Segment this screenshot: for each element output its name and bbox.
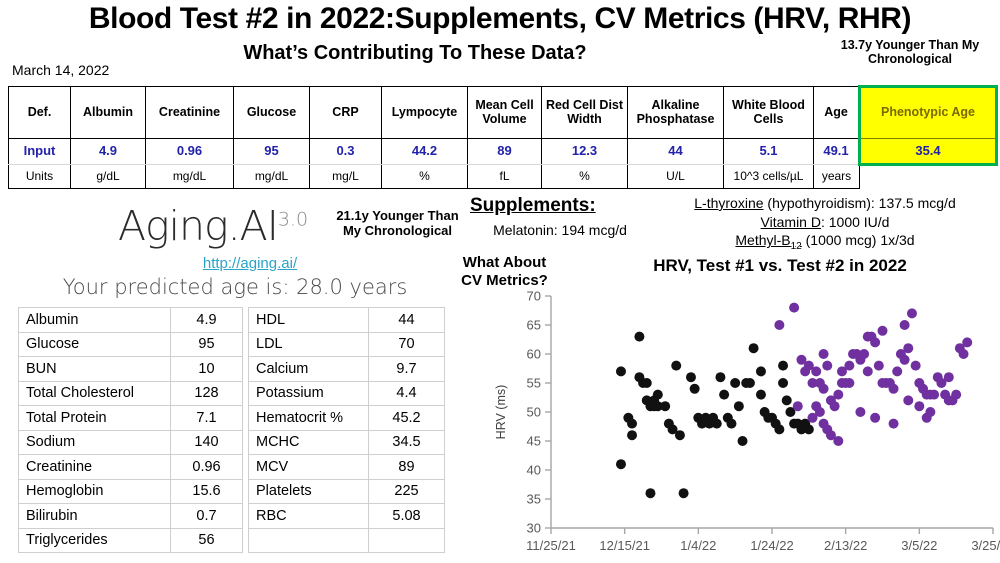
y-tick-label: 35 <box>527 492 541 507</box>
blood-results-table-right: HDL44 LDL70 Calcium9.7 Potassium4.4 Hema… <box>248 307 445 553</box>
result-label: Potassium <box>249 381 369 406</box>
table-row: Glucose95 <box>19 332 243 357</box>
table-row: Hematocrit %45.2 <box>249 406 445 431</box>
table-row: MCV89 <box>249 455 445 480</box>
input-age: 49.1 <box>814 139 860 165</box>
result-label: Hematocrit % <box>249 406 369 431</box>
y-tick-label: 55 <box>527 376 541 391</box>
scatter-point <box>616 366 626 376</box>
result-label: Total Cholesterol <box>19 381 171 406</box>
scatter-point <box>844 361 854 371</box>
units-crp: mg/L <box>310 165 382 189</box>
units-lympocyte: % <box>382 165 468 189</box>
supplement-methyl-b12-base: Methyl-B <box>735 232 790 248</box>
result-value: 45.2 <box>369 406 445 431</box>
supplements-heading-colon: : <box>589 195 595 216</box>
supplement-methyl-b12-name: Methyl-B12 <box>735 232 801 248</box>
result-value: 7.1 <box>171 406 243 431</box>
units-creatinine: mg/dL <box>146 165 234 189</box>
supplement-lthyroxine-dose: (hypothyroidism): 137.5 mcg/d <box>764 195 956 211</box>
y-axis-title: HRV (ms) <box>494 385 508 440</box>
phenotypic-younger-note: 13.7y Younger Than My Chronological <box>820 38 1000 66</box>
result-label: HDL <box>249 308 369 333</box>
scatter-point <box>745 378 755 388</box>
scatter-point <box>959 349 969 359</box>
input-phenotypic-age: 35.4 <box>860 139 997 165</box>
scatter-point <box>756 366 766 376</box>
supplements-list: L-thyroxine (hypothyroidism): 137.5 mcg/… <box>650 194 1000 253</box>
agingai-logo-text: Aging.AI <box>118 202 278 250</box>
scatter-point <box>726 419 736 429</box>
scatter-point <box>889 384 899 394</box>
result-label: Albumin <box>19 308 171 333</box>
scatter-point <box>774 320 784 330</box>
result-label: Hemoglobin <box>19 479 171 504</box>
scatter-point <box>870 413 880 423</box>
test-date-label: March 14, 2022 <box>12 62 109 78</box>
col-head-crp: CRP <box>310 87 382 139</box>
units-mean-cell-volume: fL <box>468 165 542 189</box>
scatter-point <box>616 459 626 469</box>
y-tick-label: 45 <box>527 434 541 449</box>
scatter-point <box>874 361 884 371</box>
col-head-glucose: Glucose <box>234 87 310 139</box>
result-value: 4.4 <box>369 381 445 406</box>
table-row: Potassium4.4 <box>249 381 445 406</box>
scatter-point <box>738 436 748 446</box>
col-head-mean-cell-volume: Mean Cell Volume <box>468 87 542 139</box>
scatter-point <box>962 337 972 347</box>
col-head-lympocyte: Lympocyte <box>382 87 468 139</box>
units-alkaline-phosphatase: U/L <box>628 165 724 189</box>
scatter-point <box>660 401 670 411</box>
scatter-point <box>900 320 910 330</box>
col-head-albumin: Albumin <box>71 87 146 139</box>
result-value: 128 <box>171 381 243 406</box>
units-red-cell-dist-width: % <box>542 165 628 189</box>
result-label: MCV <box>249 455 369 480</box>
table-row: Total Protein7.1 <box>19 406 243 431</box>
scatter-point <box>914 401 924 411</box>
scatter-point <box>719 390 729 400</box>
result-label: Triglycerides <box>19 528 171 553</box>
scatter-point <box>892 366 902 376</box>
result-value: 5.08 <box>369 504 445 529</box>
scatter-point <box>808 413 818 423</box>
supplement-lthyroxine-name: L-thyroxine <box>694 195 763 211</box>
result-value: 15.6 <box>171 479 243 504</box>
supplement-methyl-b12-dose: (1000 mcg) 1x/3d <box>802 232 915 248</box>
chart-title: HRV, Test #1 vs. Test #2 in 2022 <box>560 256 1000 276</box>
row-label-input: Input <box>9 139 71 165</box>
scatter-point <box>822 361 832 371</box>
table-row <box>249 528 445 553</box>
table-row: Hemoglobin15.6 <box>19 479 243 504</box>
scatter-point <box>804 424 814 434</box>
supplement-vitamin-d-dose: : 1000 IU/d <box>821 214 890 230</box>
y-tick-label: 65 <box>527 318 541 333</box>
result-label: Bilirubin <box>19 504 171 529</box>
scatter-point <box>712 419 722 429</box>
scatter-point <box>911 361 921 371</box>
table-row: Sodium140 <box>19 430 243 455</box>
x-tick-label: 1/4/22 <box>680 538 716 553</box>
table-row: Bilirubin0.7 <box>19 504 243 529</box>
col-head-age: Age <box>814 87 860 139</box>
blood-results-table-left: Albumin4.9 Glucose95 BUN10 Total Cholest… <box>18 307 243 553</box>
input-red-cell-dist-width: 12.3 <box>542 139 628 165</box>
units-phenotypic-age <box>860 165 997 189</box>
result-label: Total Protein <box>19 406 171 431</box>
result-value: 0.96 <box>171 455 243 480</box>
table-row: Creatinine0.96 <box>19 455 243 480</box>
scatter-point <box>778 378 788 388</box>
supplement-methyl-b12-subscript: 12 <box>791 241 802 252</box>
result-label: RBC <box>249 504 369 529</box>
agingai-version: 3.0 <box>278 208 308 230</box>
supplement-melatonin: Melatonin: 194 mcg/d <box>470 222 650 238</box>
scatter-point <box>679 488 689 498</box>
scatter-point <box>907 308 917 318</box>
supplement-vitamin-d: Vitamin D: 1000 IU/d <box>650 213 1000 232</box>
result-value: 225 <box>369 479 445 504</box>
y-tick-label: 50 <box>527 405 541 420</box>
chart-svg: 30354045505560657011/25/2112/15/211/4/22… <box>440 280 1000 563</box>
scatter-point <box>844 378 854 388</box>
result-value <box>369 528 445 553</box>
scatter-point <box>800 366 810 376</box>
result-value: 44 <box>369 308 445 333</box>
row-label-units: Units <box>9 165 71 189</box>
table-header-row: Def. Albumin Creatinine Glucose CRP Lymp… <box>9 87 997 139</box>
x-tick-label: 3/5/22 <box>901 538 937 553</box>
col-head-white-blood-cells: White Blood Cells <box>724 87 814 139</box>
page-subtitle: What’s Contributing To These Data? <box>0 42 830 65</box>
scatter-point <box>627 430 637 440</box>
scatter-point <box>819 384 829 394</box>
col-head-alkaline-phosphatase: Alkaline Phosphatase <box>628 87 724 139</box>
result-value: 95 <box>171 332 243 357</box>
scatter-point <box>929 390 939 400</box>
result-value: 70 <box>369 332 445 357</box>
result-label: LDL <box>249 332 369 357</box>
supplement-vitamin-d-name: Vitamin D <box>761 214 821 230</box>
input-alkaline-phosphatase: 44 <box>628 139 724 165</box>
scatter-point <box>793 401 803 411</box>
scatter-point <box>734 401 744 411</box>
table-row: MCHC34.5 <box>249 430 445 455</box>
result-label: Glucose <box>19 332 171 357</box>
supplements-heading: Supplements: <box>470 195 596 217</box>
input-crp: 0.3 <box>310 139 382 165</box>
scatter-point <box>870 337 880 347</box>
agingai-logo: Aging.AI3.0 <box>118 202 308 250</box>
agingai-url-link[interactable]: http://aging.ai/ <box>160 255 340 272</box>
input-white-blood-cells: 5.1 <box>724 139 814 165</box>
input-lympocyte: 44.2 <box>382 139 468 165</box>
col-head-creatinine: Creatinine <box>146 87 234 139</box>
y-tick-label: 40 <box>527 463 541 478</box>
col-head-phenotypic-age: Phenotypic Age <box>860 87 997 139</box>
result-value: 4.9 <box>171 308 243 333</box>
result-label: MCHC <box>249 430 369 455</box>
table-row: BUN10 <box>19 357 243 382</box>
supplement-lthyroxine: L-thyroxine (hypothyroidism): 137.5 mcg/… <box>650 194 1000 213</box>
scatter-point <box>944 372 954 382</box>
result-label: Platelets <box>249 479 369 504</box>
table-row-input: Input 4.9 0.96 95 0.3 44.2 89 12.3 44 5.… <box>9 139 997 165</box>
y-tick-label: 30 <box>527 521 541 536</box>
result-value: 56 <box>171 528 243 553</box>
scatter-point <box>778 361 788 371</box>
result-value: 10 <box>171 357 243 382</box>
input-albumin: 4.9 <box>71 139 146 165</box>
col-head-red-cell-dist-width: Red Cell Dist Width <box>542 87 628 139</box>
phenotypic-age-table: Def. Albumin Creatinine Glucose CRP Lymp… <box>8 85 998 189</box>
scatter-point <box>863 366 873 376</box>
scatter-point <box>653 390 663 400</box>
scatter-point <box>675 430 685 440</box>
scatter-point <box>819 349 829 359</box>
input-creatinine: 0.96 <box>146 139 234 165</box>
scatter-point <box>782 395 792 405</box>
result-value: 0.7 <box>171 504 243 529</box>
result-value: 89 <box>369 455 445 480</box>
x-tick-label: 2/13/22 <box>824 538 867 553</box>
hrv-scatter-chart: 30354045505560657011/25/2112/15/211/4/22… <box>440 280 1000 563</box>
scatter-point <box>686 372 696 382</box>
scatter-point <box>903 395 913 405</box>
scatter-point <box>774 424 784 434</box>
scatter-point <box>951 390 961 400</box>
agingai-younger-note: 21.1y Younger Than My Chronological <box>335 208 460 239</box>
result-label: BUN <box>19 357 171 382</box>
x-tick-label: 3/25/22 <box>971 538 1000 553</box>
input-glucose: 95 <box>234 139 310 165</box>
result-value: 34.5 <box>369 430 445 455</box>
scatter-point <box>833 436 843 446</box>
scatter-point <box>833 390 843 400</box>
scatter-point <box>855 407 865 417</box>
scatter-point <box>645 488 655 498</box>
predicted-age-text: Your predicted age is: 28.0 years <box>20 275 450 299</box>
table-row: Triglycerides56 <box>19 528 243 553</box>
scatter-point <box>671 361 681 371</box>
scatter-point <box>900 355 910 365</box>
scatter-point <box>690 384 700 394</box>
table-row: LDL70 <box>249 332 445 357</box>
scatter-point <box>756 390 766 400</box>
result-label: Calcium <box>249 357 369 382</box>
supplement-methyl-b12: Methyl-B12 (1000 mcg) 1x/3d <box>650 231 1000 253</box>
scatter-point <box>922 413 932 423</box>
table-row: Albumin4.9 <box>19 308 243 333</box>
result-label: Sodium <box>19 430 171 455</box>
scatter-point <box>627 419 637 429</box>
result-label: Creatinine <box>19 455 171 480</box>
x-tick-label: 1/24/22 <box>750 538 793 553</box>
result-label <box>249 528 369 553</box>
table-row: HDL44 <box>249 308 445 333</box>
scatter-point <box>903 343 913 353</box>
units-age: years <box>814 165 860 189</box>
table-row: RBC5.08 <box>249 504 445 529</box>
scatter-point <box>789 303 799 313</box>
scatter-point <box>634 332 644 342</box>
units-white-blood-cells: 10^3 cells/µL <box>724 165 814 189</box>
page-title: Blood Test #2 in 2022:Supplements, CV Me… <box>0 2 1000 36</box>
units-albumin: g/dL <box>71 165 146 189</box>
units-glucose: mg/dL <box>234 165 310 189</box>
scatter-point <box>889 419 899 429</box>
x-tick-label: 11/25/21 <box>526 538 576 553</box>
input-mean-cell-volume: 89 <box>468 139 542 165</box>
scatter-point <box>830 401 840 411</box>
y-tick-label: 60 <box>527 347 541 362</box>
scatter-point <box>642 378 652 388</box>
scatter-point <box>715 372 725 382</box>
y-tick-label: 70 <box>527 289 541 304</box>
col-head-def: Def. <box>9 87 71 139</box>
table-row: Total Cholesterol128 <box>19 381 243 406</box>
result-value: 140 <box>171 430 243 455</box>
scatter-point <box>878 326 888 336</box>
scatter-point <box>749 343 759 353</box>
table-row: Calcium9.7 <box>249 357 445 382</box>
table-row-units: Units g/dL mg/dL mg/dL mg/L % fL % U/L 1… <box>9 165 997 189</box>
scatter-point <box>811 366 821 376</box>
scatter-point <box>730 378 740 388</box>
result-value: 9.7 <box>369 357 445 382</box>
table-row: Platelets225 <box>249 479 445 504</box>
x-tick-label: 12/15/21 <box>599 538 650 553</box>
scatter-point <box>859 349 869 359</box>
supplements-heading-text: Supplements <box>470 195 589 216</box>
